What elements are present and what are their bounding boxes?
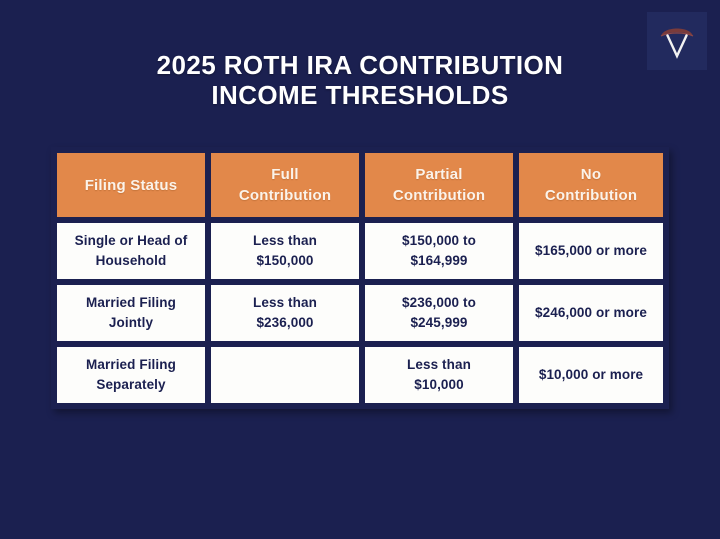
cell-no-contribution: $165,000 or more [516, 220, 666, 282]
column-header-full-contribution-line-1: Full [219, 164, 351, 185]
cell-text-line: Single or Head of [65, 231, 197, 251]
table-row: Married Filing Separately Less than $10,… [54, 344, 666, 406]
column-header-no-contribution: No Contribution [516, 150, 666, 220]
cell-text-line: $150,000 [219, 251, 351, 271]
table-row: Married Filing Jointly Less than $236,00… [54, 282, 666, 344]
cell-text-line: Household [65, 251, 197, 271]
infographic-canvas: 2025 ROTH IRA CONTRIBUTION INCOME THRESH… [0, 0, 720, 539]
cell-text-line: Married Filing [65, 355, 197, 375]
page-title: 2025 ROTH IRA CONTRIBUTION INCOME THRESH… [0, 50, 720, 110]
thresholds-table-container: Filing Status Full Contribution Partial … [51, 147, 669, 409]
cell-no-contribution: $10,000 or more [516, 344, 666, 406]
cell-text-line: Married Filing [65, 293, 197, 313]
cell-full-contribution: Less than $236,000 [208, 282, 362, 344]
cell-full-contribution: Less than $150,000 [208, 220, 362, 282]
cell-text-line: Less than [219, 293, 351, 313]
table-header: Filing Status Full Contribution Partial … [54, 150, 666, 220]
column-header-partial-contribution-line-1: Partial [373, 164, 505, 185]
column-header-partial-contribution: Partial Contribution [362, 150, 516, 220]
cell-full-contribution-empty [208, 344, 362, 406]
page-title-line-1: 2025 ROTH IRA CONTRIBUTION [40, 50, 680, 80]
cell-text-line: $165,000 or more [527, 241, 655, 261]
cell-text-line: Jointly [65, 313, 197, 333]
cell-filing-status: Married Filing Jointly [54, 282, 208, 344]
table-body: Single or Head of Household Less than $1… [54, 220, 666, 406]
column-header-filing-status-line-1: Filing Status [65, 175, 197, 196]
cell-text-line: $10,000 or more [527, 365, 655, 385]
cell-text-line: $150,000 to [373, 231, 505, 251]
cell-text-line: $10,000 [373, 375, 505, 395]
column-header-full-contribution: Full Contribution [208, 150, 362, 220]
cell-text-line: $245,999 [373, 313, 505, 333]
column-header-no-contribution-line-1: No [527, 164, 655, 185]
page-title-line-2: INCOME THRESHOLDS [40, 80, 680, 110]
cell-text-line: Separately [65, 375, 197, 395]
cell-text-line: $236,000 [219, 313, 351, 333]
cell-filing-status: Married Filing Separately [54, 344, 208, 406]
cell-text-line: $164,999 [373, 251, 505, 271]
cell-no-contribution: $246,000 or more [516, 282, 666, 344]
table-header-row: Filing Status Full Contribution Partial … [54, 150, 666, 220]
cell-partial-contribution: $236,000 to $245,999 [362, 282, 516, 344]
cell-filing-status: Single or Head of Household [54, 220, 208, 282]
thresholds-table: Filing Status Full Contribution Partial … [51, 147, 669, 409]
column-header-partial-contribution-line-2: Contribution [373, 185, 505, 206]
cell-partial-contribution: $150,000 to $164,999 [362, 220, 516, 282]
column-header-full-contribution-line-2: Contribution [219, 185, 351, 206]
table-row: Single or Head of Household Less than $1… [54, 220, 666, 282]
cell-partial-contribution: Less than $10,000 [362, 344, 516, 406]
cell-text-line: $246,000 or more [527, 303, 655, 323]
cell-text-line: Less than [219, 231, 351, 251]
cell-text-line: Less than [373, 355, 505, 375]
cell-text-line: $236,000 to [373, 293, 505, 313]
column-header-no-contribution-line-2: Contribution [527, 185, 655, 206]
column-header-filing-status: Filing Status [54, 150, 208, 220]
